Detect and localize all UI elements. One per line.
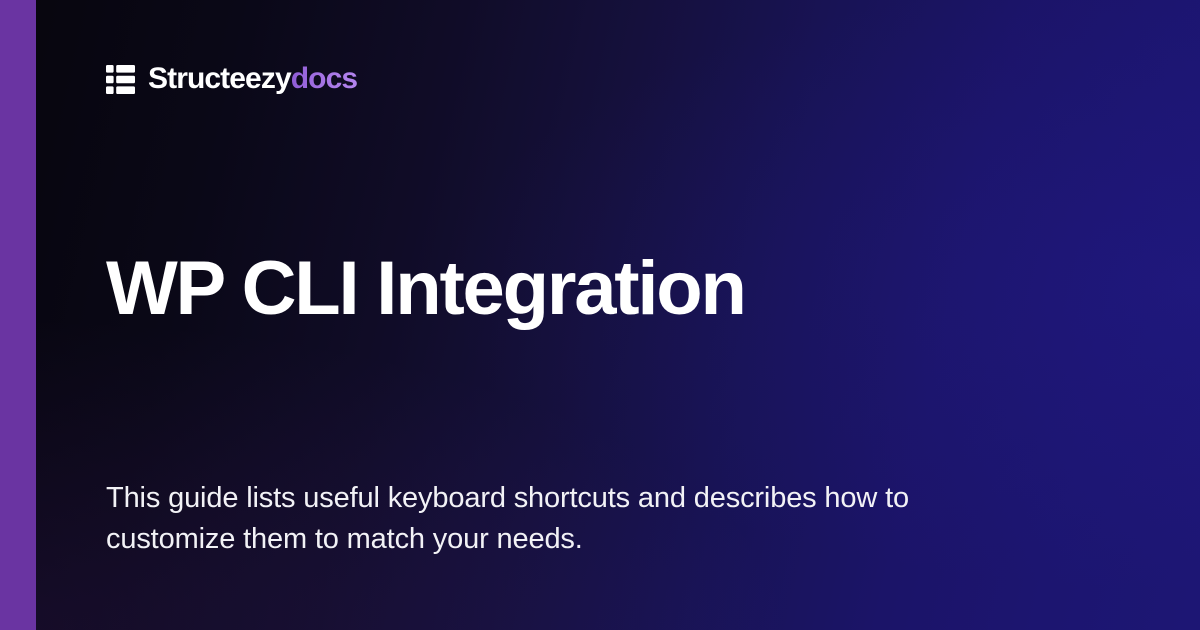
card-content: Structeezydocs WP CLI Integration This g…: [0, 0, 1200, 630]
page-description: This guide lists useful keyboard shortcu…: [106, 478, 1021, 560]
brand-logo[interactable]: Structeezydocs: [106, 64, 357, 94]
brand-suffix: docs: [291, 62, 357, 95]
page-title: WP CLI Integration: [106, 248, 1106, 330]
brand-wordmark: Structeezydocs: [148, 64, 357, 94]
brand-name: Structeezy: [148, 62, 291, 95]
og-card: Structeezydocs WP CLI Integration This g…: [0, 0, 1200, 630]
grid-layout-icon: [106, 65, 135, 94]
